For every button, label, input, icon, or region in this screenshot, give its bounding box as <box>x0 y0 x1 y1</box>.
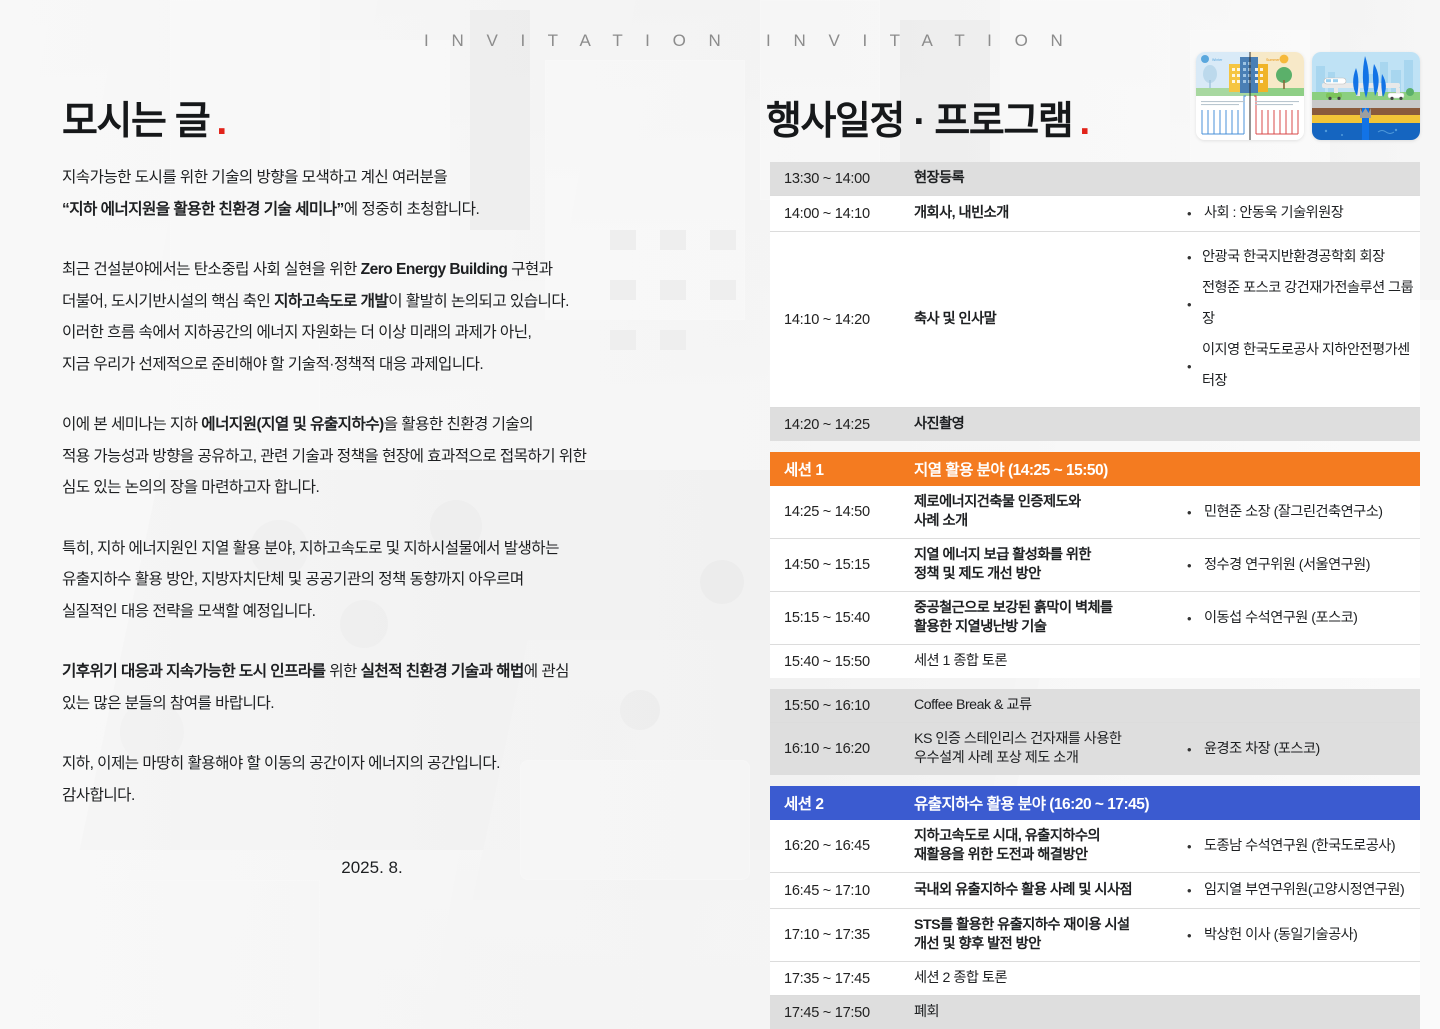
speaker-cell: 윤경조 차장 (포스코) <box>1202 723 1420 776</box>
bullet-marker: • <box>1176 273 1202 335</box>
schedule-topic: STS를 활용한 유출지하수 재이용 시설개선 및 향후 발전 방안 <box>904 909 1176 962</box>
bullet-marker <box>1176 996 1202 1029</box>
letter-line: 실질적인 대응 전략을 모색할 예정입니다. <box>62 603 315 620</box>
schedule-topic: 개회사, 내빈소개 <box>904 196 1176 232</box>
schedule-row: 17:10 ~ 17:35STS를 활용한 유출지하수 재이용 시설개선 및 향… <box>770 909 1420 962</box>
schedule-topic: Coffee Break & 교류 <box>904 689 1176 723</box>
speaker-item: 이지영 한국도로공사 지하안전평가센터장 <box>1202 335 1420 397</box>
right-section-title: 행사일정 · 프로그램. <box>766 90 1089 146</box>
schedule-topic: 제로에너지건축물 인증제도와사례 소개 <box>904 486 1176 539</box>
schedule-block-break: 15:50 ~ 16:10Coffee Break & 교류16:10 ~ 16… <box>770 689 1420 775</box>
letter-line: 심도 있는 논의의 장을 마련하고자 합니다. <box>62 479 319 496</box>
letter-line: 지속가능한 도시를 위한 기술의 방향을 모색하고 계신 여러분을 <box>62 169 447 186</box>
speaker-cell <box>1202 408 1420 442</box>
schedule-block-opening: 13:30 ~ 14:00현장등록14:00 ~ 14:10개회사, 내빈소개•… <box>770 162 1420 441</box>
schedule-row: 17:45 ~ 17:50폐회 <box>770 996 1420 1029</box>
speaker-cell: 사회 : 안동욱 기술위원장 <box>1202 196 1420 232</box>
letter-line: 지금 우리가 선제적으로 준비해야 할 기술적·정책적 대응 과제입니다. <box>62 356 483 373</box>
schedule-row: 14:00 ~ 14:10개회사, 내빈소개•사회 : 안동욱 기술위원장 <box>770 196 1420 232</box>
letter-line: 이러한 흐름 속에서 지하공간의 에너지 자원화는 더 이상 미래의 과제가 아… <box>62 324 531 341</box>
right-section-title-text: 행사일정 · 프로그램 <box>766 100 1072 143</box>
groundwater-underground-highway-illustration <box>1312 52 1420 140</box>
letter-line: 기후위기 대응과 지속가능한 도시 인프라를 위한 실천적 친환경 기술과 해법… <box>62 663 569 680</box>
bullet-marker: • <box>1176 196 1202 232</box>
schedule-row: 15:15 ~ 15:40중공철근으로 보강된 흙막이 벽체를활용한 지열냉난방… <box>770 592 1420 645</box>
speaker-cell <box>1202 162 1420 196</box>
schedule-topic: 축사 및 인사말 <box>904 232 1176 408</box>
title-accent-dot-right: . <box>1079 100 1088 143</box>
schedule-time: 14:10 ~ 14:20 <box>770 232 904 408</box>
geothermal-heating-cooling-illustration: Winter Summer <box>1196 52 1304 140</box>
session2-banner: 세션 2유출지하수 활용 분야 (16:20 ~ 17:45) <box>770 786 1420 820</box>
schedule-row: 17:35 ~ 17:45세션 2 종합 토론 <box>770 962 1420 996</box>
eyebrow-invitation-right: I N V I T A T I O N <box>766 31 1072 51</box>
schedule-topic: 지하고속도로 시대, 유출지하수의재활용을 위한 도전과 해결방안 <box>904 820 1176 873</box>
bullet-marker: • <box>1176 873 1202 909</box>
schedule-time: 15:50 ~ 16:10 <box>770 689 904 723</box>
bullet-marker: • <box>1176 242 1202 273</box>
schedule-time: 16:10 ~ 16:20 <box>770 723 904 776</box>
schedule-row: 15:50 ~ 16:10Coffee Break & 교류 <box>770 689 1420 723</box>
speaker-item: 안광국 한국지반환경공학회 회장 <box>1202 242 1420 273</box>
letter-paragraph: 이에 본 세미나는 지하 에너지원(지열 및 유출지하수)을 활용한 친환경 기… <box>62 409 682 504</box>
schedule-time: 16:20 ~ 16:45 <box>770 820 904 873</box>
letter-line: “지하 에너지원을 활용한 친환경 기술 세미나”에 정중히 초청합니다. <box>62 201 479 218</box>
schedule-row: 14:25 ~ 14:50제로에너지건축물 인증제도와사례 소개•민현준 소장 … <box>770 486 1420 539</box>
schedule-row: 16:10 ~ 16:20KS 인증 스테인리스 건자재를 사용한우수설계 사례… <box>770 723 1420 776</box>
session1-banner: 세션 1지열 활용 분야 (14:25 ~ 15:50) <box>770 452 1420 486</box>
schedule-topic: 중공철근으로 보강된 흙막이 벽체를활용한 지열냉난방 기술 <box>904 592 1176 645</box>
invitation-date: 2025. 8. <box>62 858 682 878</box>
speaker-cell <box>1202 689 1420 723</box>
speaker-cell: 임지열 부연구위원(고양시정연구원) <box>1202 873 1420 909</box>
event-schedule: 13:30 ~ 14:00현장등록14:00 ~ 14:10개회사, 내빈소개•… <box>770 162 1420 1029</box>
bullet-marker <box>1176 645 1202 679</box>
speaker-cell: •안광국 한국지반환경공학회 회장•전형준 포스코 강건재가전솔루션 그룹장•이… <box>1176 232 1420 408</box>
letter-paragraph: 특히, 지하 에너지원인 지열 활용 분야, 지하고속도로 및 지하시설물에서 … <box>62 533 682 628</box>
schedule-topic: 세션 1 종합 토론 <box>904 645 1176 679</box>
schedule-topic: 지열 에너지 보급 활성화를 위한정책 및 제도 개선 방안 <box>904 539 1176 592</box>
schedule-time: 14:50 ~ 15:15 <box>770 539 904 592</box>
svg-text:Summer: Summer <box>1266 58 1280 62</box>
session-title: 지열 활용 분야 (14:25 ~ 15:50) <box>914 458 1420 480</box>
invitation-letter-body: 지속가능한 도시를 위한 기술의 방향을 모색하고 계신 여러분을“지하 에너지… <box>62 162 682 811</box>
letter-line: 유출지하수 활용 방안, 지방자치단체 및 공공기관의 정책 동향까지 아우르며 <box>62 571 524 588</box>
schedule-topic: KS 인증 스테인리스 건자재를 사용한우수설계 사례 포상 제도 소개 <box>904 723 1176 776</box>
bullet-marker: • <box>1176 335 1202 397</box>
letter-line: 이에 본 세미나는 지하 에너지원(지열 및 유출지하수)을 활용한 친환경 기… <box>62 416 533 433</box>
schedule-block-session2: 16:20 ~ 16:45지하고속도로 시대, 유출지하수의재활용을 위한 도전… <box>770 820 1420 1029</box>
letter-paragraph: 지속가능한 도시를 위한 기술의 방향을 모색하고 계신 여러분을“지하 에너지… <box>62 162 682 225</box>
schedule-topic: 현장등록 <box>904 162 1176 196</box>
eyebrow-invitation-left: I N V I T A T I O N <box>424 31 730 51</box>
bullet-marker: • <box>1176 820 1202 873</box>
session-title: 유출지하수 활용 분야 (16:20 ~ 17:45) <box>914 792 1420 814</box>
speaker-item: 전형준 포스코 강건재가전솔루션 그룹장 <box>1202 273 1420 335</box>
schedule-time: 14:25 ~ 14:50 <box>770 486 904 539</box>
letter-line: 있는 많은 분들의 참여를 바랍니다. <box>62 695 274 712</box>
invitation-poster: I N V I T A T I O N I N V I T A T I O N … <box>0 0 1440 1029</box>
letter-line: 지하, 이제는 마땅히 활용해야 할 이동의 공간이자 에너지의 공간입니다. <box>62 755 500 772</box>
letter-line: 최근 건설분야에서는 탄소중립 사회 실현을 위한 Zero Energy Bu… <box>62 261 552 278</box>
schedule-topic: 국내외 유출지하수 활용 사례 및 시사점 <box>904 873 1176 909</box>
bullet-marker <box>1176 962 1202 996</box>
letter-line: 특히, 지하 에너지원인 지열 활용 분야, 지하고속도로 및 지하시설물에서 … <box>62 540 559 557</box>
svg-text:Winter: Winter <box>1212 58 1223 62</box>
speaker-cell: 도종남 수석연구원 (한국도로공사) <box>1202 820 1420 873</box>
left-section-title: 모시는 글. <box>62 90 226 146</box>
letter-paragraph: 최근 건설분야에서는 탄소중립 사회 실현을 위한 Zero Energy Bu… <box>62 254 682 380</box>
schedule-time: 17:10 ~ 17:35 <box>770 909 904 962</box>
schedule-block-session1: 14:25 ~ 14:50제로에너지건축물 인증제도와사례 소개•민현준 소장 … <box>770 486 1420 678</box>
bullet-marker: • <box>1176 486 1202 539</box>
schedule-topic: 사진촬영 <box>904 408 1176 442</box>
schedule-time: 15:40 ~ 15:50 <box>770 645 904 679</box>
speaker-cell: 정수경 연구위원 (서울연구원) <box>1202 539 1420 592</box>
schedule-time: 15:15 ~ 15:40 <box>770 592 904 645</box>
bullet-marker: • <box>1176 909 1202 962</box>
schedule-time: 16:45 ~ 17:10 <box>770 873 904 909</box>
schedule-time: 17:45 ~ 17:50 <box>770 996 904 1029</box>
title-accent-dot: . <box>216 100 225 143</box>
schedule-row: 16:20 ~ 16:45지하고속도로 시대, 유출지하수의재활용을 위한 도전… <box>770 820 1420 873</box>
schedule-time: 14:00 ~ 14:10 <box>770 196 904 232</box>
bullet-marker <box>1176 162 1202 196</box>
schedule-row: 15:40 ~ 15:50세션 1 종합 토론 <box>770 645 1420 679</box>
bullet-marker: • <box>1176 723 1202 776</box>
letter-paragraph: 지하, 이제는 마땅히 활용해야 할 이동의 공간이자 에너지의 공간입니다.감… <box>62 748 682 811</box>
letter-paragraph: 기후위기 대응과 지속가능한 도시 인프라를 위한 실천적 친환경 기술과 해법… <box>62 656 682 719</box>
bullet-marker <box>1176 408 1202 442</box>
speaker-cell: 박상헌 이사 (동일기술공사) <box>1202 909 1420 962</box>
schedule-row: 14:50 ~ 15:15지열 에너지 보급 활성화를 위한정책 및 제도 개선… <box>770 539 1420 592</box>
schedule-time: 13:30 ~ 14:00 <box>770 162 904 196</box>
speaker-cell: 이동섭 수석연구원 (포스코) <box>1202 592 1420 645</box>
speaker-cell <box>1202 962 1420 996</box>
bullet-marker: • <box>1176 592 1202 645</box>
schedule-time: 17:35 ~ 17:45 <box>770 962 904 996</box>
schedule-row: 14:10 ~ 14:20축사 및 인사말•안광국 한국지반환경공학회 회장•전… <box>770 232 1420 408</box>
session-label: 세션 1 <box>770 458 914 480</box>
schedule-row: 16:45 ~ 17:10국내외 유출지하수 활용 사례 및 시사점•임지열 부… <box>770 873 1420 909</box>
schedule-topic: 세션 2 종합 토론 <box>904 962 1176 996</box>
bullet-marker: • <box>1176 539 1202 592</box>
speaker-cell <box>1202 645 1420 679</box>
letter-line: 감사합니다. <box>62 787 135 804</box>
left-section-title-text: 모시는 글 <box>62 100 209 143</box>
spacer <box>770 678 1420 689</box>
spacer <box>770 441 1420 452</box>
letter-line: 적용 가능성과 방향을 공유하고, 관련 기술과 정책을 현장에 효과적으로 접… <box>62 448 586 465</box>
schedule-row: 13:30 ~ 14:00현장등록 <box>770 162 1420 196</box>
spacer <box>770 775 1420 786</box>
letter-line: 더불어, 도시기반시설의 핵심 축인 지하고속도로 개발이 활발히 논의되고 있… <box>62 293 569 310</box>
session-label: 세션 2 <box>770 792 914 814</box>
bullet-marker <box>1176 689 1202 723</box>
schedule-row: 14:20 ~ 14:25사진촬영 <box>770 408 1420 442</box>
speaker-cell: 민현준 소장 (잘그린건축연구소) <box>1202 486 1420 539</box>
speaker-cell <box>1202 996 1420 1029</box>
schedule-topic: 폐회 <box>904 996 1176 1029</box>
schedule-time: 14:20 ~ 14:25 <box>770 408 904 442</box>
